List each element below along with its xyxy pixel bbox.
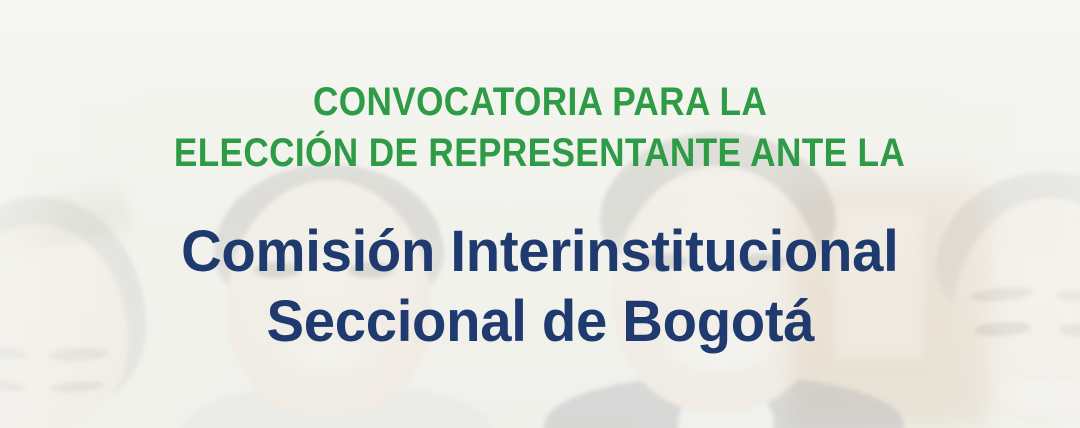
kicker-line-2: ELECCIÓN DE REPRESENTANTE ANTE LA bbox=[174, 133, 905, 175]
title-line-2: Seccional de Bogotá bbox=[266, 291, 814, 352]
banner-text-block: CONVOCATORIA PARA LA ELECCIÓN DE REPRESE… bbox=[0, 0, 1080, 428]
title-line-1: Comisión Interinstitucional bbox=[181, 221, 898, 282]
kicker-line-1: CONVOCATORIA PARA LA bbox=[313, 82, 767, 124]
convocatoria-banner: CONVOCATORIA PARA LA ELECCIÓN DE REPRESE… bbox=[0, 0, 1080, 428]
